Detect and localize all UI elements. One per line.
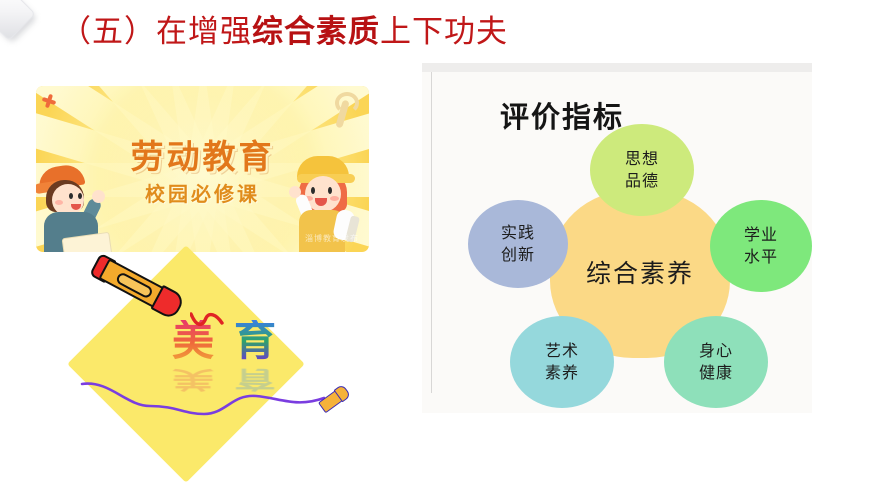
diagram-node-arts-line1: 艺术 — [545, 340, 579, 362]
title-emphasis: 综合素质 — [252, 14, 380, 50]
labour-education-banner-image: 劳动教育 校园必修课 淄博教育发布 — [36, 86, 369, 252]
diagram-top-band — [422, 63, 812, 72]
diagram-canvas: 评价指标 综合素养 思想 品德 学业 水平 实践 创新 艺术 素养 身心 — [432, 72, 782, 393]
diagram-node-health: 身心 健康 — [664, 316, 768, 408]
diagram-node-practice-line1: 实践 — [501, 222, 535, 244]
red-stroke-mark — [190, 312, 224, 330]
title-suffix: 上下功夫 — [380, 14, 508, 50]
diagram-node-arts: 艺术 素养 — [510, 316, 614, 408]
diagram-node-academic: 学业 水平 — [710, 200, 812, 292]
diagram-title: 评价指标 — [500, 94, 624, 136]
diagram-node-ideology: 思想 品德 — [590, 124, 694, 216]
diagram-node-academic-line2: 水平 — [744, 246, 778, 268]
diagram-node-ideology-line1: 思想 — [625, 148, 659, 170]
diagram-node-practice: 实践 创新 — [468, 200, 568, 288]
diagram-node-ideology-line2: 品德 — [625, 170, 659, 192]
slide-canvas: （五）在增强综合素质上下功夫 劳动教育 校园必修课 淄博教育发布 美 育 美 育 — [0, 0, 887, 489]
diagram-node-arts-line2: 素养 — [545, 362, 579, 384]
purple-wave-line — [80, 376, 326, 416]
boy-illustration — [38, 160, 124, 252]
diamond-bullet-icon — [0, 0, 40, 46]
diagram-node-practice-line2: 创新 — [501, 244, 535, 266]
spark-icon — [42, 94, 56, 108]
diagram-node-health-line2: 健康 — [699, 362, 733, 384]
aesthetic-education-image: 美 育 美 育 — [74, 262, 350, 420]
title-prefix: （五）在增强 — [60, 14, 252, 50]
diagram-node-academic-line1: 学业 — [744, 224, 778, 246]
wrench-icon — [333, 92, 353, 128]
banner-watermark: 淄博教育发布 — [305, 233, 359, 244]
yu-char: 育 — [234, 320, 276, 362]
diagram-node-core-label: 综合素养 — [586, 263, 694, 285]
evaluation-indicator-diagram-image: 评价指标 综合素养 思想 品德 学业 水平 实践 创新 艺术 素养 身心 — [422, 63, 812, 413]
diagram-node-health-line1: 身心 — [699, 340, 733, 362]
page-title: （五）在增强综合素质上下功夫 — [60, 12, 508, 52]
